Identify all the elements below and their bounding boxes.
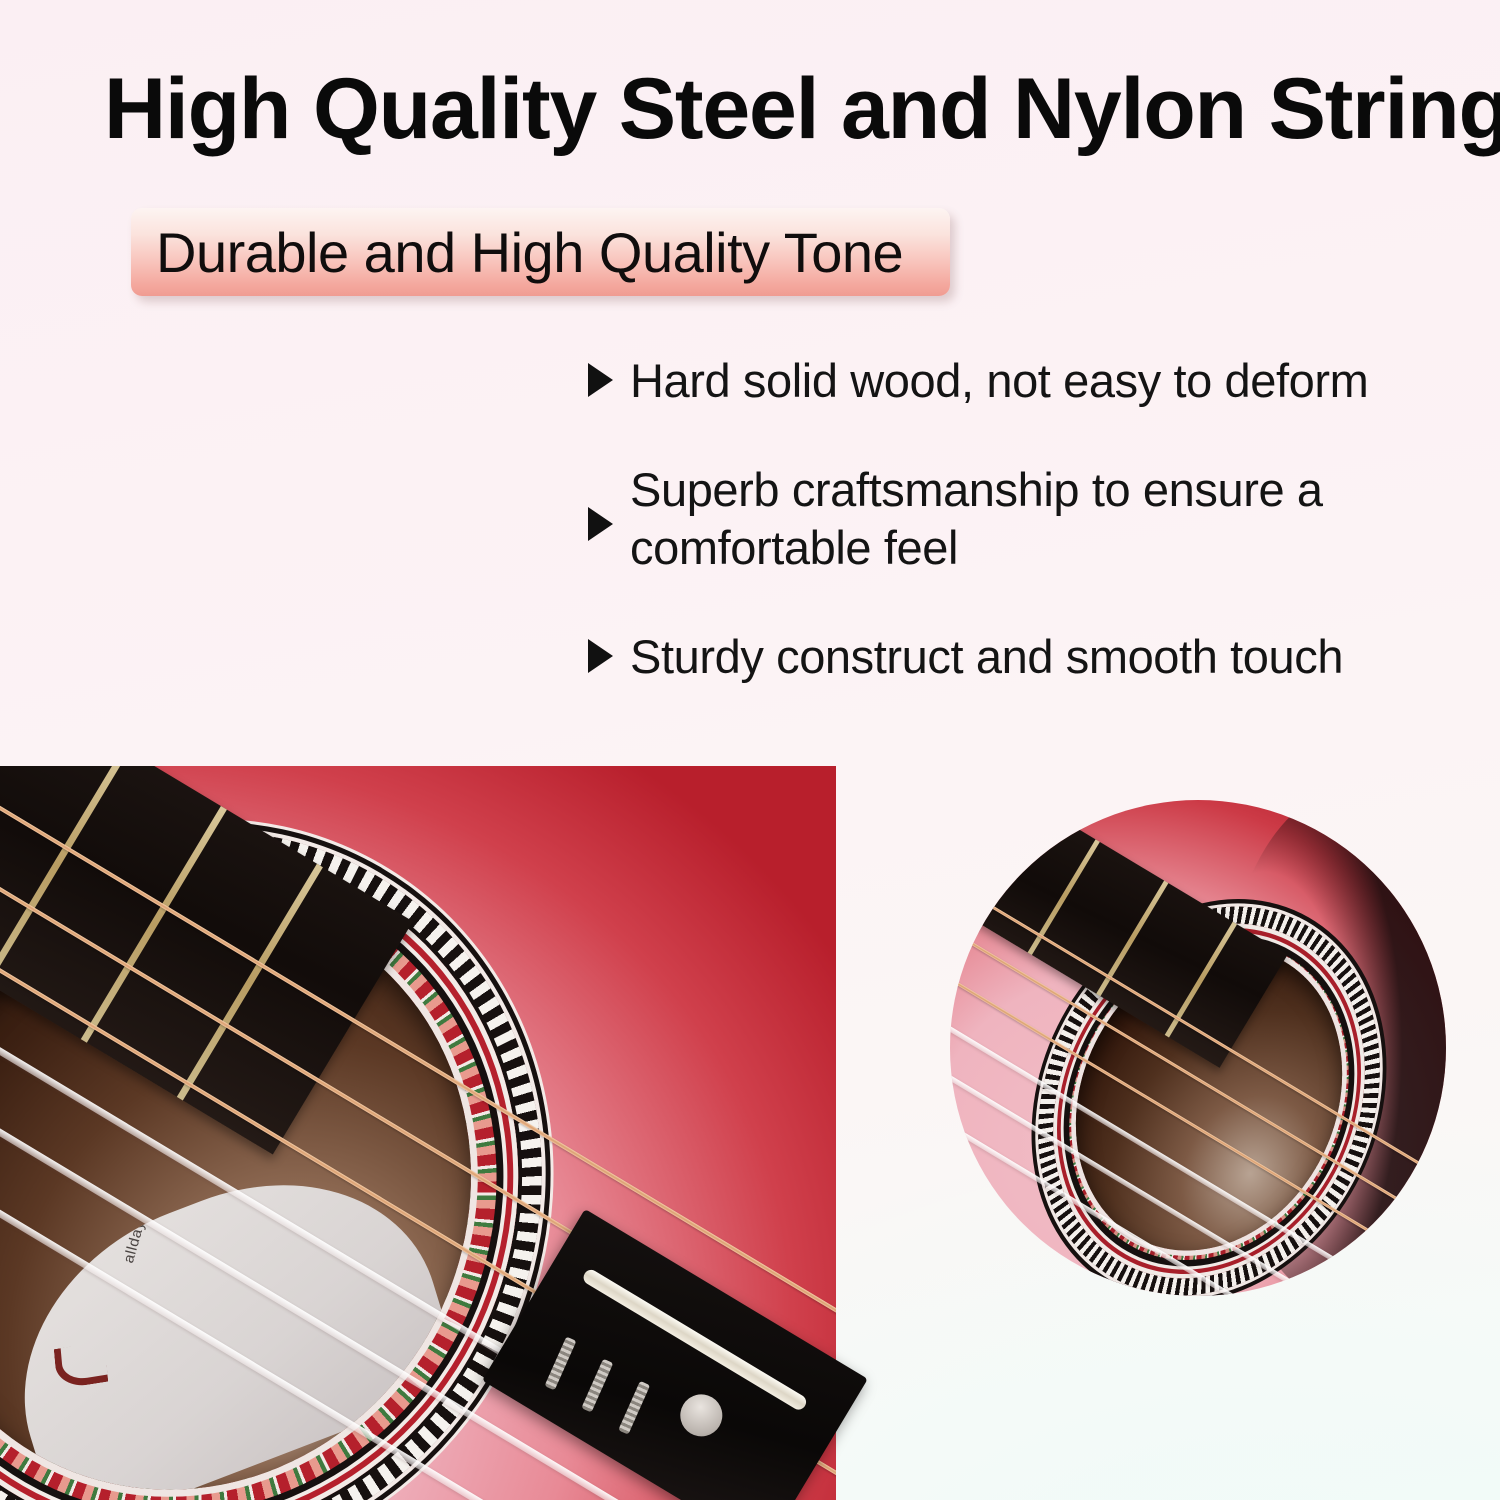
fret: [0, 766, 129, 984]
page-title: High Quality Steel and Nylon Strings: [104, 66, 1444, 154]
feature-text: Superb craftsmanship to ensure a comfort…: [630, 461, 1468, 576]
fret: [81, 806, 227, 1043]
string-tie: [581, 1359, 613, 1413]
guitar-rosette-inset-photo: [950, 800, 1446, 1296]
subtitle-badge-label: Durable and High Quality Tone: [131, 220, 903, 285]
fret: [177, 864, 323, 1101]
string-tie: [544, 1336, 576, 1390]
interior-label-text: alldaymusic.com: [121, 1142, 170, 1263]
feature-list: Hard solid wood, not easy to deform Supe…: [588, 352, 1468, 685]
fret: [1096, 881, 1168, 997]
string-tie: [618, 1381, 650, 1435]
label-logo-mark: [54, 1341, 108, 1389]
list-item: Sturdy construct and smooth touch: [588, 628, 1468, 685]
fret: [1165, 922, 1237, 1038]
fret: [959, 800, 1031, 914]
subtitle-badge: Durable and High Quality Tone: [131, 208, 950, 296]
list-item: Superb craftsmanship to ensure a comfort…: [588, 461, 1468, 576]
bridge-dot: [672, 1386, 730, 1444]
triangle-right-icon: [588, 507, 613, 541]
triangle-right-icon: [588, 639, 613, 673]
feature-text: Sturdy construct and smooth touch: [630, 628, 1343, 685]
list-item: Hard solid wood, not easy to deform: [588, 352, 1468, 409]
product-feature-card: High Quality Steel and Nylon Strings Dur…: [0, 0, 1500, 1500]
fret: [0, 766, 31, 925]
triangle-right-icon: [588, 363, 613, 397]
feature-text: Hard solid wood, not easy to deform: [630, 352, 1368, 409]
fret: [1028, 839, 1100, 955]
